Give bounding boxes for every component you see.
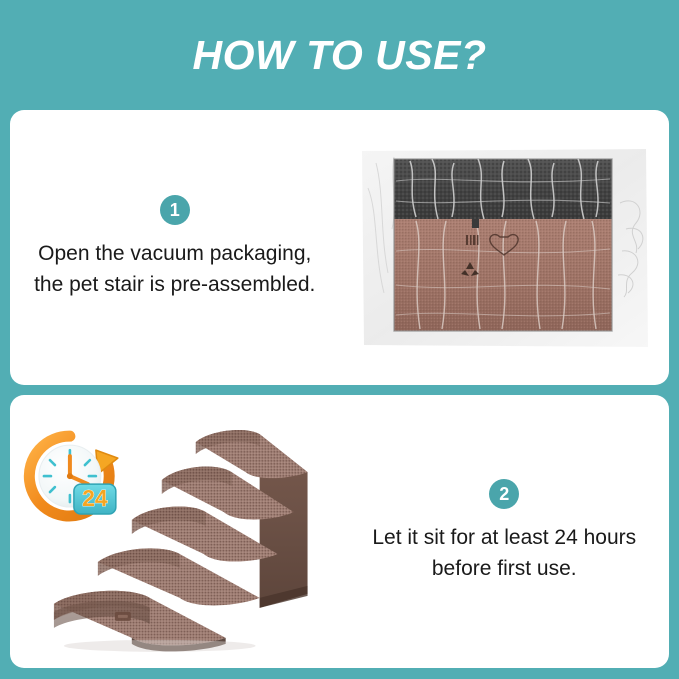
step-1-description: Open the vacuum packaging, the pet stair… [34,239,316,300]
step-2-badge: 2 [489,479,519,509]
pet-stair-product-photo: 24 [10,412,340,652]
infographic-page: HOW TO USE? 1 Open the vacuum packaging,… [0,0,679,679]
step-1-text-column: 1 Open the vacuum packaging, the pet sta… [10,195,340,300]
step-2-description: Let it sit for at least 24 hours before … [364,523,646,584]
step-1-badge: 1 [160,195,190,225]
clock-badge-label: 24 [82,485,108,511]
header-bar: HOW TO USE? [10,0,669,110]
vacuum-sealed-package-photo [354,133,654,363]
step-2-text-column: 2 Let it sit for at least 24 hours befor… [340,479,670,584]
page-title: HOW TO USE? [192,35,486,76]
step-2-card: 24 2 Let it sit for at least 24 hours be… [10,395,669,668]
clock-24-hours-icon: 24 [29,436,118,516]
step-1-card: 1 Open the vacuum packaging, the pet sta… [10,110,669,385]
step-2-image-area: 24 [10,395,340,668]
step-1-image-area [340,110,670,385]
